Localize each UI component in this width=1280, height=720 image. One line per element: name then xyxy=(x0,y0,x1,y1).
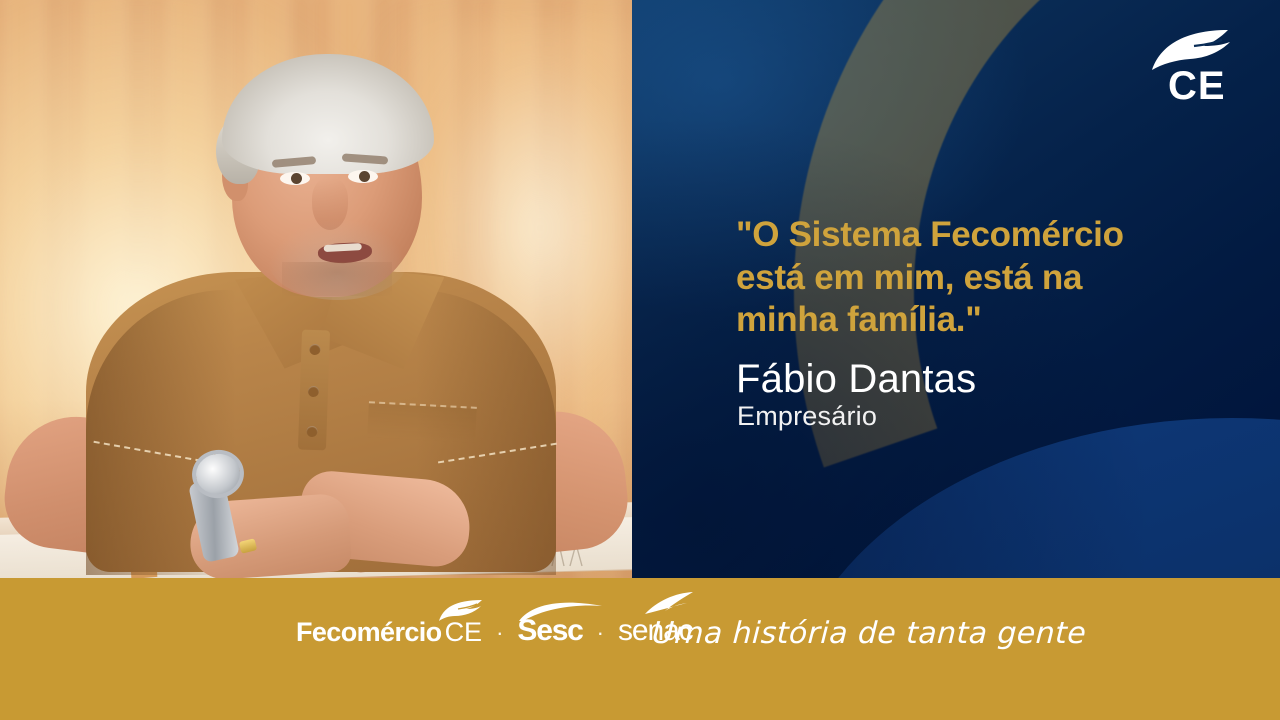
fecomercio-wordmark: Fecomércio xyxy=(296,619,442,648)
arc-swoosh-icon xyxy=(519,600,603,622)
iris xyxy=(291,173,302,184)
shirt-button xyxy=(309,344,320,355)
quote-text: "O Sistema Fecomércio está em mim, está … xyxy=(736,214,1206,342)
shirt-button xyxy=(306,426,317,437)
bird-swoosh-icon xyxy=(643,592,695,616)
campaign-tagline: Uma história de tanta gente xyxy=(651,616,1087,651)
campaign-banner: CE "O Sistema Fecomércio está em mim, es… xyxy=(0,0,1280,720)
hair xyxy=(222,54,434,174)
portrait-photo xyxy=(0,0,632,578)
sesc-logo[interactable]: Sesc xyxy=(517,602,582,648)
quote-line-1: "O Sistema Fecomércio xyxy=(736,214,1206,257)
shirt-pocket xyxy=(367,401,477,443)
ce-logo: CE xyxy=(1150,26,1246,110)
fecomercio-ce-suffix: CE xyxy=(442,619,483,648)
person-figure xyxy=(0,0,632,578)
speaker-name: Fábio Dantas xyxy=(736,358,976,400)
brand-separator: · xyxy=(583,622,618,648)
eye-right xyxy=(348,170,378,183)
ce-logo-text: CE xyxy=(1168,66,1226,106)
brand-logo-row: Fecomércio CE · Sesc · senac xyxy=(296,602,693,648)
speaker-role: Empresário xyxy=(737,402,877,432)
shirt-placket xyxy=(298,330,330,451)
teeth xyxy=(324,243,362,252)
quote-line-3: minha família." xyxy=(736,299,1206,342)
iris xyxy=(359,171,370,182)
feather-icon xyxy=(438,598,484,622)
footer-bar: Fecomércio CE · Sesc · senac xyxy=(0,578,1280,720)
chin-shadow xyxy=(282,262,392,296)
eye-left xyxy=(280,172,310,185)
quote-line-2: está em mim, está na xyxy=(736,257,1206,300)
brand-separator: · xyxy=(482,622,517,648)
shirt-button xyxy=(308,386,319,397)
fecomercio-logo[interactable]: Fecomércio CE xyxy=(296,602,482,648)
